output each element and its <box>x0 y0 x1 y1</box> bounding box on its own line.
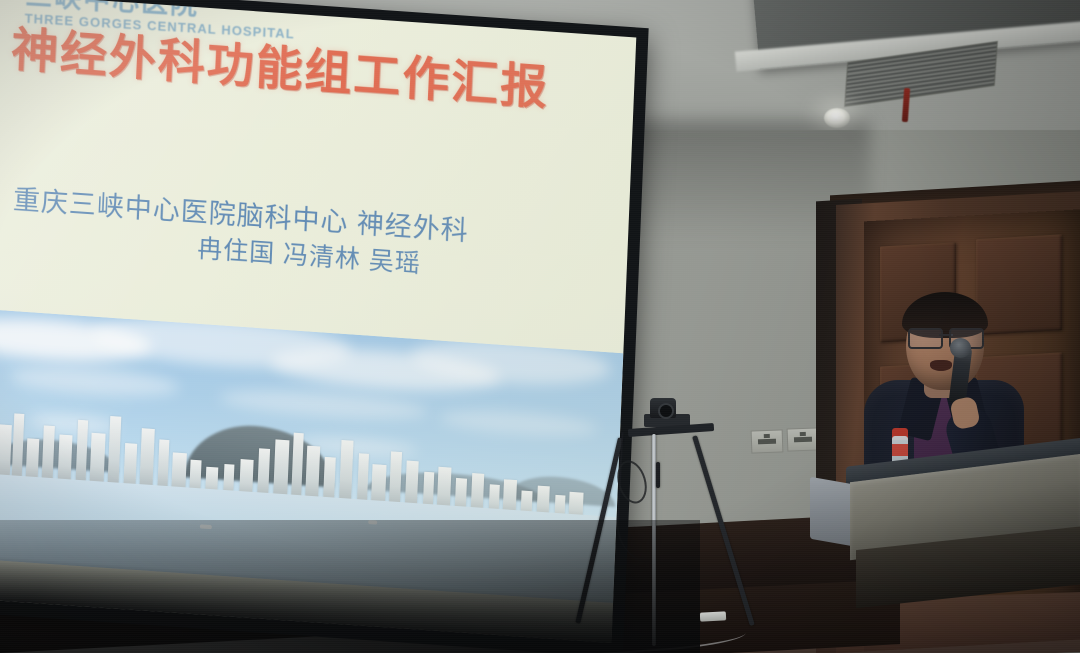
speaker-mouth <box>930 360 952 371</box>
water-bottle-label <box>892 444 908 456</box>
power-outlet-icon <box>787 427 820 451</box>
foreground-shadow <box>0 520 700 653</box>
eyeglasses-icon <box>908 328 984 345</box>
podium <box>846 452 1080 602</box>
power-strip-icon <box>700 611 726 621</box>
camera-lens-icon <box>658 403 674 419</box>
presentation-photo-scene: 三峡中心医院 THREE GORGES CENTRAL HOSPITAL 神经外… <box>0 0 1080 653</box>
slide-subtitle: 重庆三峡中心医院脑科中心 神经外科 冉住国 冯清林 吴瑶 <box>11 181 553 292</box>
tripod-leg <box>692 435 755 626</box>
